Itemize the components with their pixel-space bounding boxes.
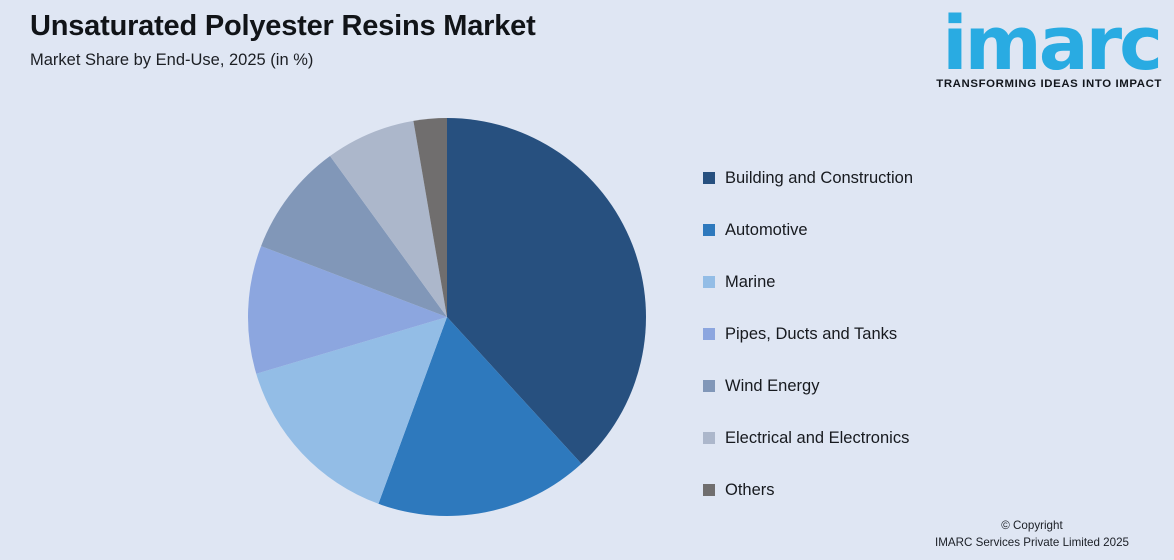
legend-swatch-icon [703, 432, 715, 444]
legend-label: Electrical and Electronics [725, 430, 909, 447]
imarc-logo: imarc TRANSFORMING IDEAS INTO IMPACT [922, 8, 1162, 90]
page-title: Unsaturated Polyester Resins Market [30, 8, 690, 44]
legend-label: Automotive [725, 222, 808, 239]
logo-wordmark-wrap: imarc [922, 8, 1162, 80]
legend-label: Marine [725, 274, 775, 291]
chart-header: Unsaturated Polyester Resins Market Mark… [30, 8, 690, 71]
legend-item[interactable]: Electrical and Electronics [703, 412, 1133, 464]
legend-swatch-icon [703, 328, 715, 340]
pie-chart-svg [247, 117, 647, 517]
legend-item[interactable]: Others [703, 464, 1133, 516]
pie-chart [247, 117, 647, 522]
legend-item[interactable]: Wind Energy [703, 360, 1133, 412]
copyright-footer: © Copyright IMARC Services Private Limit… [902, 518, 1162, 552]
chart-legend: Building and ConstructionAutomotiveMarin… [703, 152, 1133, 516]
legend-swatch-icon [703, 276, 715, 288]
copyright-line-2: IMARC Services Private Limited 2025 [902, 535, 1162, 552]
chart-subtitle: Market Share by End-Use, 2025 (in %) [30, 51, 690, 71]
legend-label: Pipes, Ducts and Tanks [725, 326, 897, 343]
legend-swatch-icon [703, 484, 715, 496]
logo-wordmark-text: imarc [922, 8, 1162, 80]
legend-item[interactable]: Automotive [703, 204, 1133, 256]
legend-swatch-icon [703, 380, 715, 392]
legend-swatch-icon [703, 172, 715, 184]
legend-label: Wind Energy [725, 378, 819, 395]
legend-label: Building and Construction [725, 170, 913, 187]
copyright-line-1: © Copyright [902, 518, 1162, 535]
legend-item[interactable]: Pipes, Ducts and Tanks [703, 308, 1133, 360]
legend-item[interactable]: Marine [703, 256, 1133, 308]
legend-swatch-icon [703, 224, 715, 236]
legend-item[interactable]: Building and Construction [703, 152, 1133, 204]
legend-label: Others [725, 482, 775, 499]
